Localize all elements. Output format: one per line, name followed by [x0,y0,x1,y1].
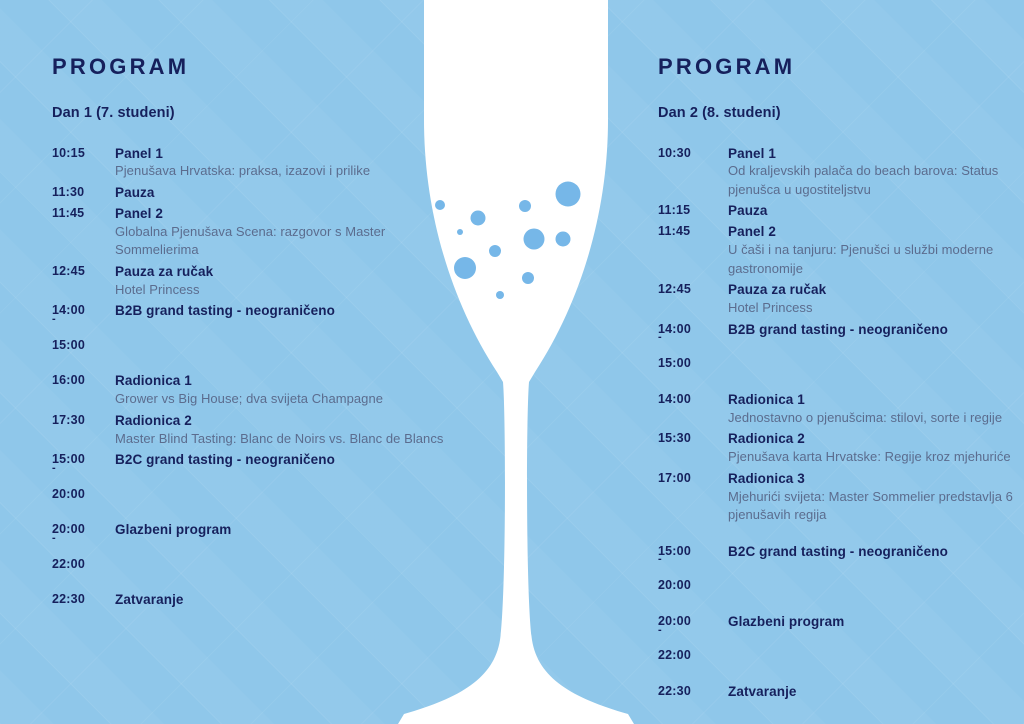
entry-time: 20:00-22:00 [658,613,728,665]
entry-time: 12:45 [52,263,115,281]
entry-time: 22:30 [52,591,115,609]
schedule-entry: 11:45Panel 2Globalna Pjenušava Scena: ra… [52,205,452,260]
entry-body: Panel 2U čaši i na tanjuru: Pjenušci u s… [728,223,1018,278]
entry-title: Pauza za ručak [115,263,452,281]
schedule-entry: 14:00-15:00B2B grand tasting - neogranič… [52,302,452,354]
entry-description: Jednostavno o pjenušcima: stilovi, sorte… [728,409,1018,427]
entry-time: 14:00-15:00 [658,321,728,373]
entry-title: Glazbeni program [728,613,1018,631]
entry-description: Grower vs Big House; dva svijeta Champag… [115,390,452,408]
bubble-icon [522,272,534,284]
schedule-entry: 11:45Panel 2U čaši i na tanjuru: Pjenušc… [658,223,1018,278]
bubble-icon [556,232,571,247]
entry-title: Pauza [115,184,452,202]
entry-time-end: 15:00 [52,338,85,352]
schedule-entry: 10:30Panel 1Od kraljevskih palača do bea… [658,145,1018,200]
entry-body: Radionica 2Pjenušava karta Hrvatske: Reg… [728,430,1018,466]
day-label-day-2: Dan 2 (8. studeni) [658,78,1018,121]
entry-title: Zatvaranje [115,591,452,609]
entry-time: 11:30 [52,184,115,202]
entry-description: Mjehurići svijeta: Master Sommelier pred… [728,488,1018,525]
schedule-entry: 20:00-22:00Glazbeni program [658,613,1018,665]
entry-title: Panel 1 [728,145,1018,163]
program-column-day-1: PROGRAM Dan 1 (7. studeni) 10:15Panel 1P… [52,0,452,612]
schedule-entry: 17:00Radionica 3Mjehurići svijeta: Maste… [658,470,1018,525]
entry-body: B2C grand tasting - neograničeno [728,543,1018,561]
entry-body: Pauza za ručakHotel Princess [115,263,452,299]
entry-title: B2B grand tasting - neograničeno [728,321,1018,339]
entry-time: 11:45 [658,223,728,241]
bubble-icon [454,257,476,279]
schedule-entry: 20:00-22:00Glazbeni program [52,521,452,573]
schedule-entry: 15:00-20:00B2C grand tasting - neogranič… [52,451,452,503]
entry-time: 15:30 [658,430,728,448]
bubble-group [435,182,581,300]
schedule-entry: 16:00Radionica 1Grower vs Big House; dva… [52,372,452,408]
entry-body: Pauza [115,184,452,202]
entry-time: 14:00-15:00 [52,302,115,354]
bubble-icon [556,182,581,207]
entry-body: Panel 1Pjenušava Hrvatska: praksa, izazo… [115,145,452,181]
entry-time: 10:15 [52,145,115,163]
entry-body: Zatvaranje [115,591,452,609]
entry-body: Radionica 3Mjehurići svijeta: Master Som… [728,470,1018,525]
entry-title: B2C grand tasting - neograničeno [115,451,452,469]
schedule-list-day-2: 10:30Panel 1Od kraljevskih palača do bea… [658,121,1018,701]
entry-time: 10:30 [658,145,728,163]
schedule-entry: 10:15Panel 1Pjenušava Hrvatska: praksa, … [52,145,452,181]
schedule-entry: 12:45Pauza za ručakHotel Princess [658,281,1018,317]
entry-description: Hotel Princess [728,299,1018,317]
entry-body: B2B grand tasting - neograničeno [728,321,1018,339]
day-label-day-1: Dan 1 (7. studeni) [52,78,452,121]
entry-time: 20:00-22:00 [52,521,115,573]
entry-body: Panel 2Globalna Pjenušava Scena: razgovo… [115,205,452,260]
entry-body: Pauza za ručakHotel Princess [728,281,1018,317]
entry-title: Pauza za ručak [728,281,1018,299]
entry-time: 14:00 [658,391,728,409]
schedule-list-day-1: 10:15Panel 1Pjenušava Hrvatska: praksa, … [52,121,452,609]
entry-description: Pjenušava karta Hrvatske: Regije kroz mj… [728,448,1018,466]
bubble-icon [496,291,504,299]
entry-body: Glazbeni program [728,613,1018,631]
entry-body: Glazbeni program [115,521,452,539]
entry-title: Panel 2 [728,223,1018,241]
entry-body: Radionica 1Jednostavno o pjenušcima: sti… [728,391,1018,427]
bubble-icon [519,200,531,212]
entry-body: Zatvaranje [728,683,1018,701]
entry-title: B2B grand tasting - neograničeno [115,302,452,320]
page-title-day-2: PROGRAM [658,0,1018,78]
program-poster: PROGRAM Dan 1 (7. studeni) 10:15Panel 1P… [0,0,1024,724]
entry-time-end: 22:00 [658,648,691,662]
entry-time: 17:30 [52,412,115,430]
entry-title: Radionica 1 [115,372,452,390]
entry-description: Pjenušava Hrvatska: praksa, izazovi i pr… [115,162,452,180]
schedule-entry: 15:00-20:00B2C grand tasting - neogranič… [658,543,1018,595]
entry-body: Radionica 2Master Blind Tasting: Blanc d… [115,412,452,448]
entry-description: Hotel Princess [115,281,452,299]
entry-title: Radionica 3 [728,470,1018,488]
bubble-icon [524,229,545,250]
schedule-entry: 11:15Pauza [658,202,1018,220]
bubble-icon [471,211,486,226]
entry-title: Glazbeni program [115,521,452,539]
entry-description: U čaši i na tanjuru: Pjenušci u službi m… [728,241,1018,278]
entry-time: 15:00-20:00 [658,543,728,595]
entry-title: Pauza [728,202,1018,220]
entry-time: 11:15 [658,202,728,220]
schedule-entry: 11:30Pauza [52,184,452,202]
entry-time: 17:00 [658,470,728,488]
entry-body: Pauza [728,202,1018,220]
entry-title: Radionica 2 [115,412,452,430]
entry-description: Globalna Pjenušava Scena: razgovor s Mas… [115,223,452,260]
schedule-entry: 14:00-15:00B2B grand tasting - neogranič… [658,321,1018,373]
entry-time-end: 15:00 [658,356,691,370]
entry-body: B2C grand tasting - neograničeno [115,451,452,469]
schedule-entry: 22:30Zatvaranje [658,683,1018,701]
entry-title: Radionica 1 [728,391,1018,409]
schedule-entry: 15:30Radionica 2Pjenušava karta Hrvatske… [658,430,1018,466]
entry-body: Radionica 1Grower vs Big House; dva svij… [115,372,452,408]
bubble-icon [457,229,463,235]
schedule-entry: 12:45Pauza za ručakHotel Princess [52,263,452,299]
entry-time-end: 22:00 [52,557,85,571]
entry-time-end: 20:00 [658,578,691,592]
schedule-entry: 17:30Radionica 2Master Blind Tasting: Bl… [52,412,452,448]
entry-body: B2B grand tasting - neograničeno [115,302,452,320]
entry-time: 15:00-20:00 [52,451,115,503]
bubble-icon [489,245,501,257]
schedule-entry: 22:30Zatvaranje [52,591,452,609]
program-column-day-2: PROGRAM Dan 2 (8. studeni) 10:30Panel 1O… [658,0,1018,704]
entry-time: 22:30 [658,683,728,701]
page-title-day-1: PROGRAM [52,0,452,78]
entry-time-end: 20:00 [52,487,85,501]
entry-title: Panel 1 [115,145,452,163]
entry-title: B2C grand tasting - neograničeno [728,543,1018,561]
entry-time: 11:45 [52,205,115,223]
entry-time: 12:45 [658,281,728,299]
entry-title: Radionica 2 [728,430,1018,448]
entry-body: Panel 1Od kraljevskih palača do beach ba… [728,145,1018,200]
entry-time: 16:00 [52,372,115,390]
entry-title: Zatvaranje [728,683,1018,701]
entry-description: Od kraljevskih palača do beach barova: S… [728,162,1018,199]
schedule-entry: 14:00Radionica 1Jednostavno o pjenušcima… [658,391,1018,427]
entry-description: Master Blind Tasting: Blanc de Noirs vs.… [115,430,452,448]
entry-title: Panel 2 [115,205,452,223]
